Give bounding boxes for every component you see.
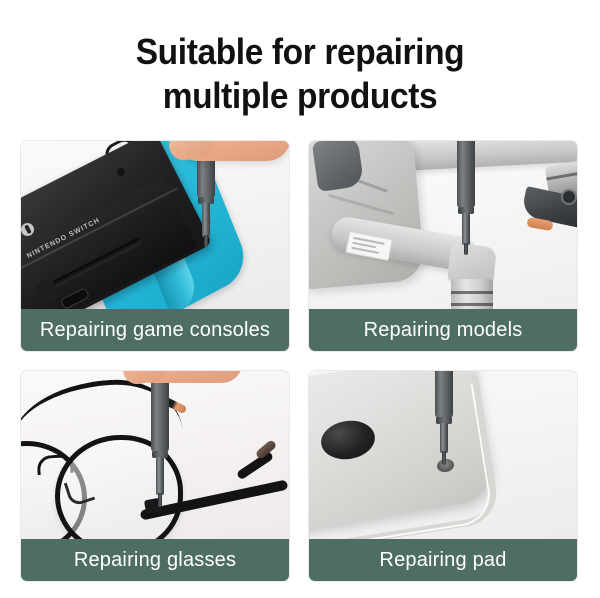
use-case-card-models[interactable]: Repairing models	[308, 140, 578, 352]
screwdriver-tip	[464, 243, 468, 255]
page-title-line-1: Suitable for repairing	[21, 30, 579, 74]
screwdriver-grip	[151, 371, 169, 453]
use-case-grid: NINTENDO SWITCH Repairing game consoles	[20, 140, 578, 584]
screwdriver-shaft	[440, 423, 448, 453]
page-title-line-2: multiple products	[21, 74, 579, 118]
screwdriver-shaft	[156, 457, 164, 495]
card-caption-glasses: Repairing glasses	[21, 539, 289, 581]
screwdriver-tip	[158, 493, 162, 507]
screwdriver-grip	[457, 141, 475, 209]
page-title: Suitable for repairing multiple products	[21, 30, 579, 118]
card-caption-game-consoles: Repairing game consoles	[21, 309, 289, 351]
screwdriver-tool	[435, 371, 457, 471]
card-caption-pad: Repairing pad	[309, 539, 577, 581]
use-case-card-glasses[interactable]: Repairing glasses	[20, 370, 290, 582]
drone-propeller-hub	[561, 189, 577, 205]
screwdriver-shaft	[462, 213, 470, 245]
use-case-card-game-consoles[interactable]: NINTENDO SWITCH Repairing game consoles	[20, 140, 290, 352]
screwdriver-tip	[204, 235, 208, 247]
screwdriver-tip	[442, 451, 446, 465]
card-caption-models: Repairing models	[309, 309, 577, 351]
use-case-card-pad[interactable]: Repairing pad	[308, 370, 578, 582]
screwdriver-tool	[151, 371, 173, 515]
screwdriver-grip	[435, 371, 453, 419]
screwdriver-shaft	[202, 203, 210, 237]
screwdriver-tool	[457, 141, 479, 259]
